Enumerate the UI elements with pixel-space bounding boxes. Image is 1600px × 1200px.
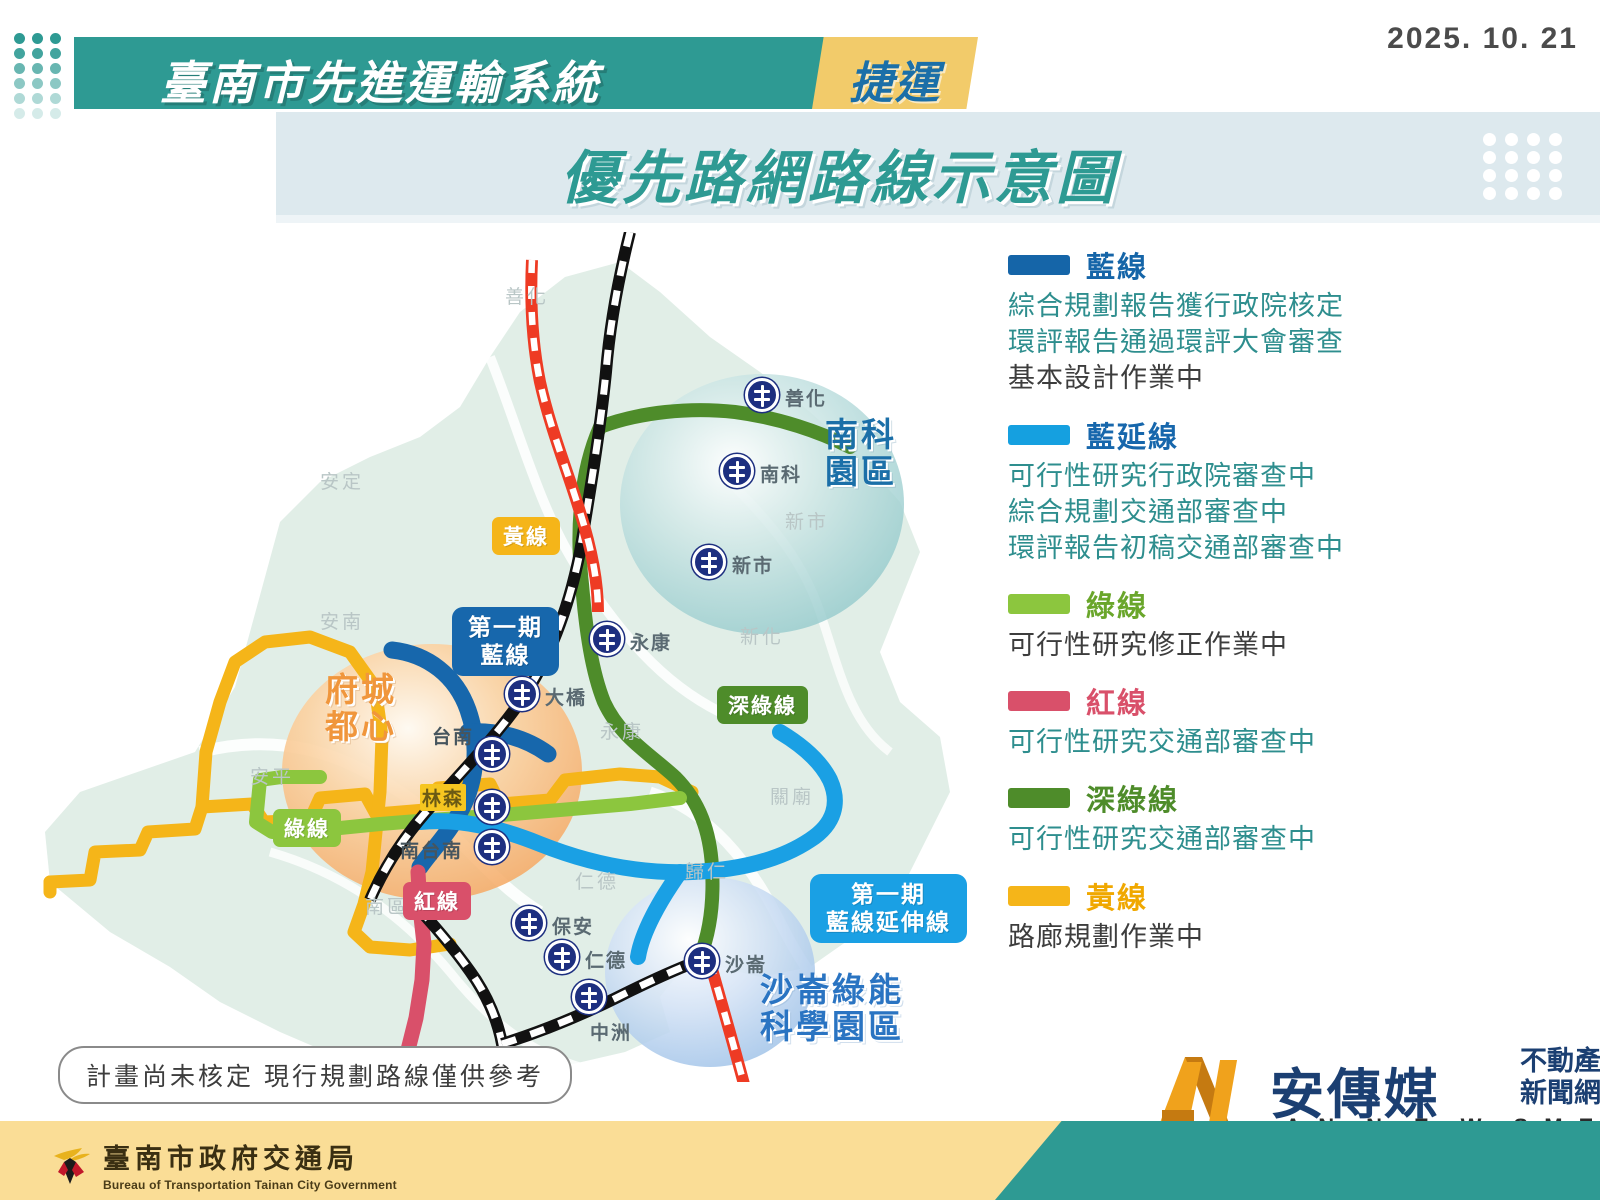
chip-line: 藍線延伸線 [826,909,951,937]
legend: 藍線 綜合規劃報告獲行政院核定 環評報告通過環評大會審查 基本設計作業中 藍延線… [1008,244,1478,972]
page-title: 優先路網路線示意圖 [560,131,1118,215]
poster-root: 2025. 10. 21 臺南市先進運輸系統 捷運 優先路網路線示意圖 [0,0,1600,1200]
legend-group-dark-green-line: 深綠線 可行性研究交通部審查中 [1008,777,1478,857]
legend-status: 綜合規劃交通部審查中 [1008,494,1478,530]
district-label: 永康 [600,717,644,744]
bureau-name-en: Bureau of Transportation Tainan City Gov… [103,1178,397,1192]
station-label: 保安 [552,912,594,939]
legend-group-green-line: 綠線 可行性研究修正作業中 [1008,583,1478,663]
legend-title: 綠線 [1086,583,1148,625]
legend-status: 可行性研究行政院審查中 [1008,458,1478,494]
legend-swatch-red-line [1008,691,1070,711]
legend-swatch-yellow-line [1008,886,1070,906]
legend-title: 紅線 [1086,680,1148,722]
station-marker[interactable] [590,622,624,656]
legend-status: 綜合規劃報告獲行政院核定 [1008,288,1478,324]
map-chip-yellow-line[interactable]: 黃線 [492,517,560,555]
station-label: 大橋 [545,683,587,710]
legend-title: 深綠線 [1086,777,1179,819]
station-marker[interactable] [745,378,779,412]
legend-status: 可行性研究交通部審查中 [1008,821,1478,857]
legend-swatch-blue-extension-line [1008,425,1070,445]
district-label: 歸仁 [685,857,729,884]
legend-status: 路廊規劃作業中 [1008,919,1478,955]
station-marker[interactable] [475,737,509,771]
station-marker[interactable] [475,790,509,824]
zone-title-line: 都心 [325,709,397,746]
legend-status: 基本設計作業中 [1008,360,1478,396]
chip-line: 第一期 [826,881,951,909]
legend-group-blue-extension-line: 藍延線 可行性研究行政院審查中 綜合規劃交通部審查中 環評報告初稿交通部審查中 [1008,414,1478,567]
station-marker[interactable] [512,906,546,940]
header-band-shadow [276,215,1600,223]
district-label: 關廟 [770,782,814,809]
legend-status: 可行性研究修正作業中 [1008,627,1478,663]
legend-title: 藍線 [1086,244,1148,286]
district-label: 善化 [505,282,549,309]
zone-title-shalun: 沙崙綠能 科學園區 [760,972,904,1046]
zone-title-line: 科學園區 [760,1009,904,1046]
station-marker[interactable] [505,677,539,711]
station-label: 台南 [432,722,474,749]
legend-swatch-blue-line [1008,255,1070,275]
district-label: 仁德 [575,867,619,894]
station-label: 林森 [420,784,466,811]
legend-header: 綠線 [1008,583,1478,625]
zone-title-line: 沙崙綠能 [760,972,904,1009]
legend-title: 藍延線 [1086,414,1179,456]
station-label: 善化 [785,384,827,411]
metro-badge-label: 捷運 [820,47,970,111]
station-label: 永康 [630,628,672,655]
station-marker[interactable] [545,940,579,974]
map-chip-red-line[interactable]: 紅線 [403,882,471,920]
system-title: 臺南市先進運輸系統 [160,47,601,113]
station-marker[interactable] [692,545,726,579]
station-marker[interactable] [720,454,754,488]
station-label: 沙崙 [725,950,767,977]
map-chip-blue-ext-phase1[interactable]: 第一期 藍線延伸線 [810,874,967,943]
station-label: 中洲 [590,1018,632,1045]
legend-header: 黃線 [1008,875,1478,917]
zone-title-line: 府城 [325,672,397,709]
zone-title-line: 園區 [825,454,897,491]
route-map[interactable]: 善化 安定 新市 安南 新化 永康 安平 關廟 仁德 歸仁 南區 南科 園區 府… [20,232,980,1082]
zone-title-line: 南科 [825,417,897,454]
legend-header: 深綠線 [1008,777,1478,819]
district-label: 新市 [785,507,829,534]
publish-date: 2025. 10. 21 [1387,22,1578,56]
legend-header: 藍延線 [1008,414,1478,456]
station-label: 仁德 [585,946,627,973]
station-label: 南台南 [400,836,463,863]
media-subtitle: 不動產 新聞網 [1520,1046,1600,1110]
legend-group-blue-line: 藍線 綜合規劃報告獲行政院核定 環評報告通過環評大會審查 基本設計作業中 [1008,244,1478,397]
district-label: 安定 [320,467,364,494]
legend-swatch-green-line [1008,594,1070,614]
district-label: 安平 [250,762,294,789]
legend-status: 環評報告通過環評大會審查 [1008,324,1478,360]
media-subtitle-line1: 不動產 [1520,1046,1600,1078]
legend-swatch-dark-green-line [1008,788,1070,808]
chip-line: 藍線 [468,642,543,670]
decorative-dot-grid-right [1483,133,1566,200]
footer: 臺南市政府交通局 Bureau of Transportation Tainan… [0,1121,1600,1200]
station-label: 南科 [760,460,802,487]
station-marker[interactable] [572,980,606,1014]
map-chip-dark-green-line[interactable]: 深綠線 [717,686,808,724]
legend-group-yellow-line: 黃線 路廊規劃作業中 [1008,875,1478,955]
bureau-name-zh: 臺南市政府交通局 [103,1137,397,1176]
district-label: 安南 [320,607,364,634]
station-label: 新市 [732,551,774,578]
legend-status: 環評報告初稿交通部審查中 [1008,530,1478,566]
legend-header: 藍線 [1008,244,1478,286]
phoenix-logo-icon [52,1144,92,1186]
decorative-dot-grid-left [14,33,64,119]
legend-group-red-line: 紅線 可行性研究交通部審查中 [1008,680,1478,760]
zone-title-fucheng: 府城 都心 [325,672,397,746]
legend-title: 黃線 [1086,875,1148,917]
bureau-logo-block: 臺南市政府交通局 Bureau of Transportation Tainan… [52,1137,397,1192]
legend-header: 紅線 [1008,680,1478,722]
footer-teal-band [995,1121,1600,1200]
disclaimer-note: 計畫尚未核定 現行規劃路線僅供參考 [58,1046,572,1104]
map-chip-blue-phase1[interactable]: 第一期 藍線 [452,607,559,676]
legend-status: 可行性研究交通部審查中 [1008,724,1478,760]
zone-title-nanke: 南科 園區 [825,417,897,491]
station-marker[interactable] [475,830,509,864]
chip-line: 第一期 [468,614,543,642]
district-label: 新化 [740,622,784,649]
station-marker[interactable] [685,944,719,978]
media-subtitle-line2: 新聞網 [1520,1078,1600,1110]
map-chip-green-line[interactable]: 綠線 [273,809,341,847]
